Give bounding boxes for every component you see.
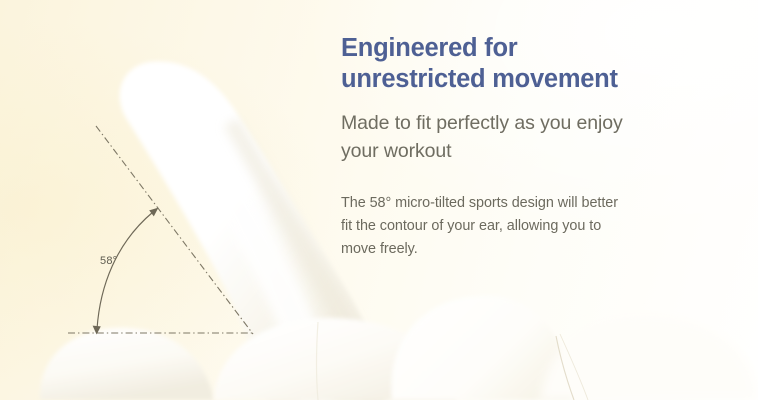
subheading-line-2: your workout: [341, 137, 701, 165]
copy-block: Engineered for unrestricted movement Mad…: [341, 33, 701, 261]
body-line-3: move freely.: [341, 238, 701, 261]
angle-arc: [97, 212, 153, 329]
headline-line-2: unrestricted movement: [341, 64, 701, 95]
body-line-2: fit the contour of your ear, allowing yo…: [341, 215, 701, 238]
headline-line-1: Engineered for: [341, 33, 701, 64]
angle-arrowhead-upper: [149, 208, 158, 217]
promo-banner: 58° Engineered for unrestricted movement…: [0, 0, 758, 400]
subheading: Made to fit perfectly as you enjoy your …: [341, 109, 701, 165]
angle-value-label: 58°: [100, 255, 117, 267]
page-title: Engineered for unrestricted movement: [341, 33, 701, 95]
body-paragraph: The 58° micro-tilted sports design will …: [341, 192, 701, 261]
body-line-1: The 58° micro-tilted sports design will …: [341, 192, 701, 215]
subheading-line-1: Made to fit perfectly as you enjoy: [341, 109, 701, 137]
tilt-axis-dashdot: [96, 126, 253, 334]
